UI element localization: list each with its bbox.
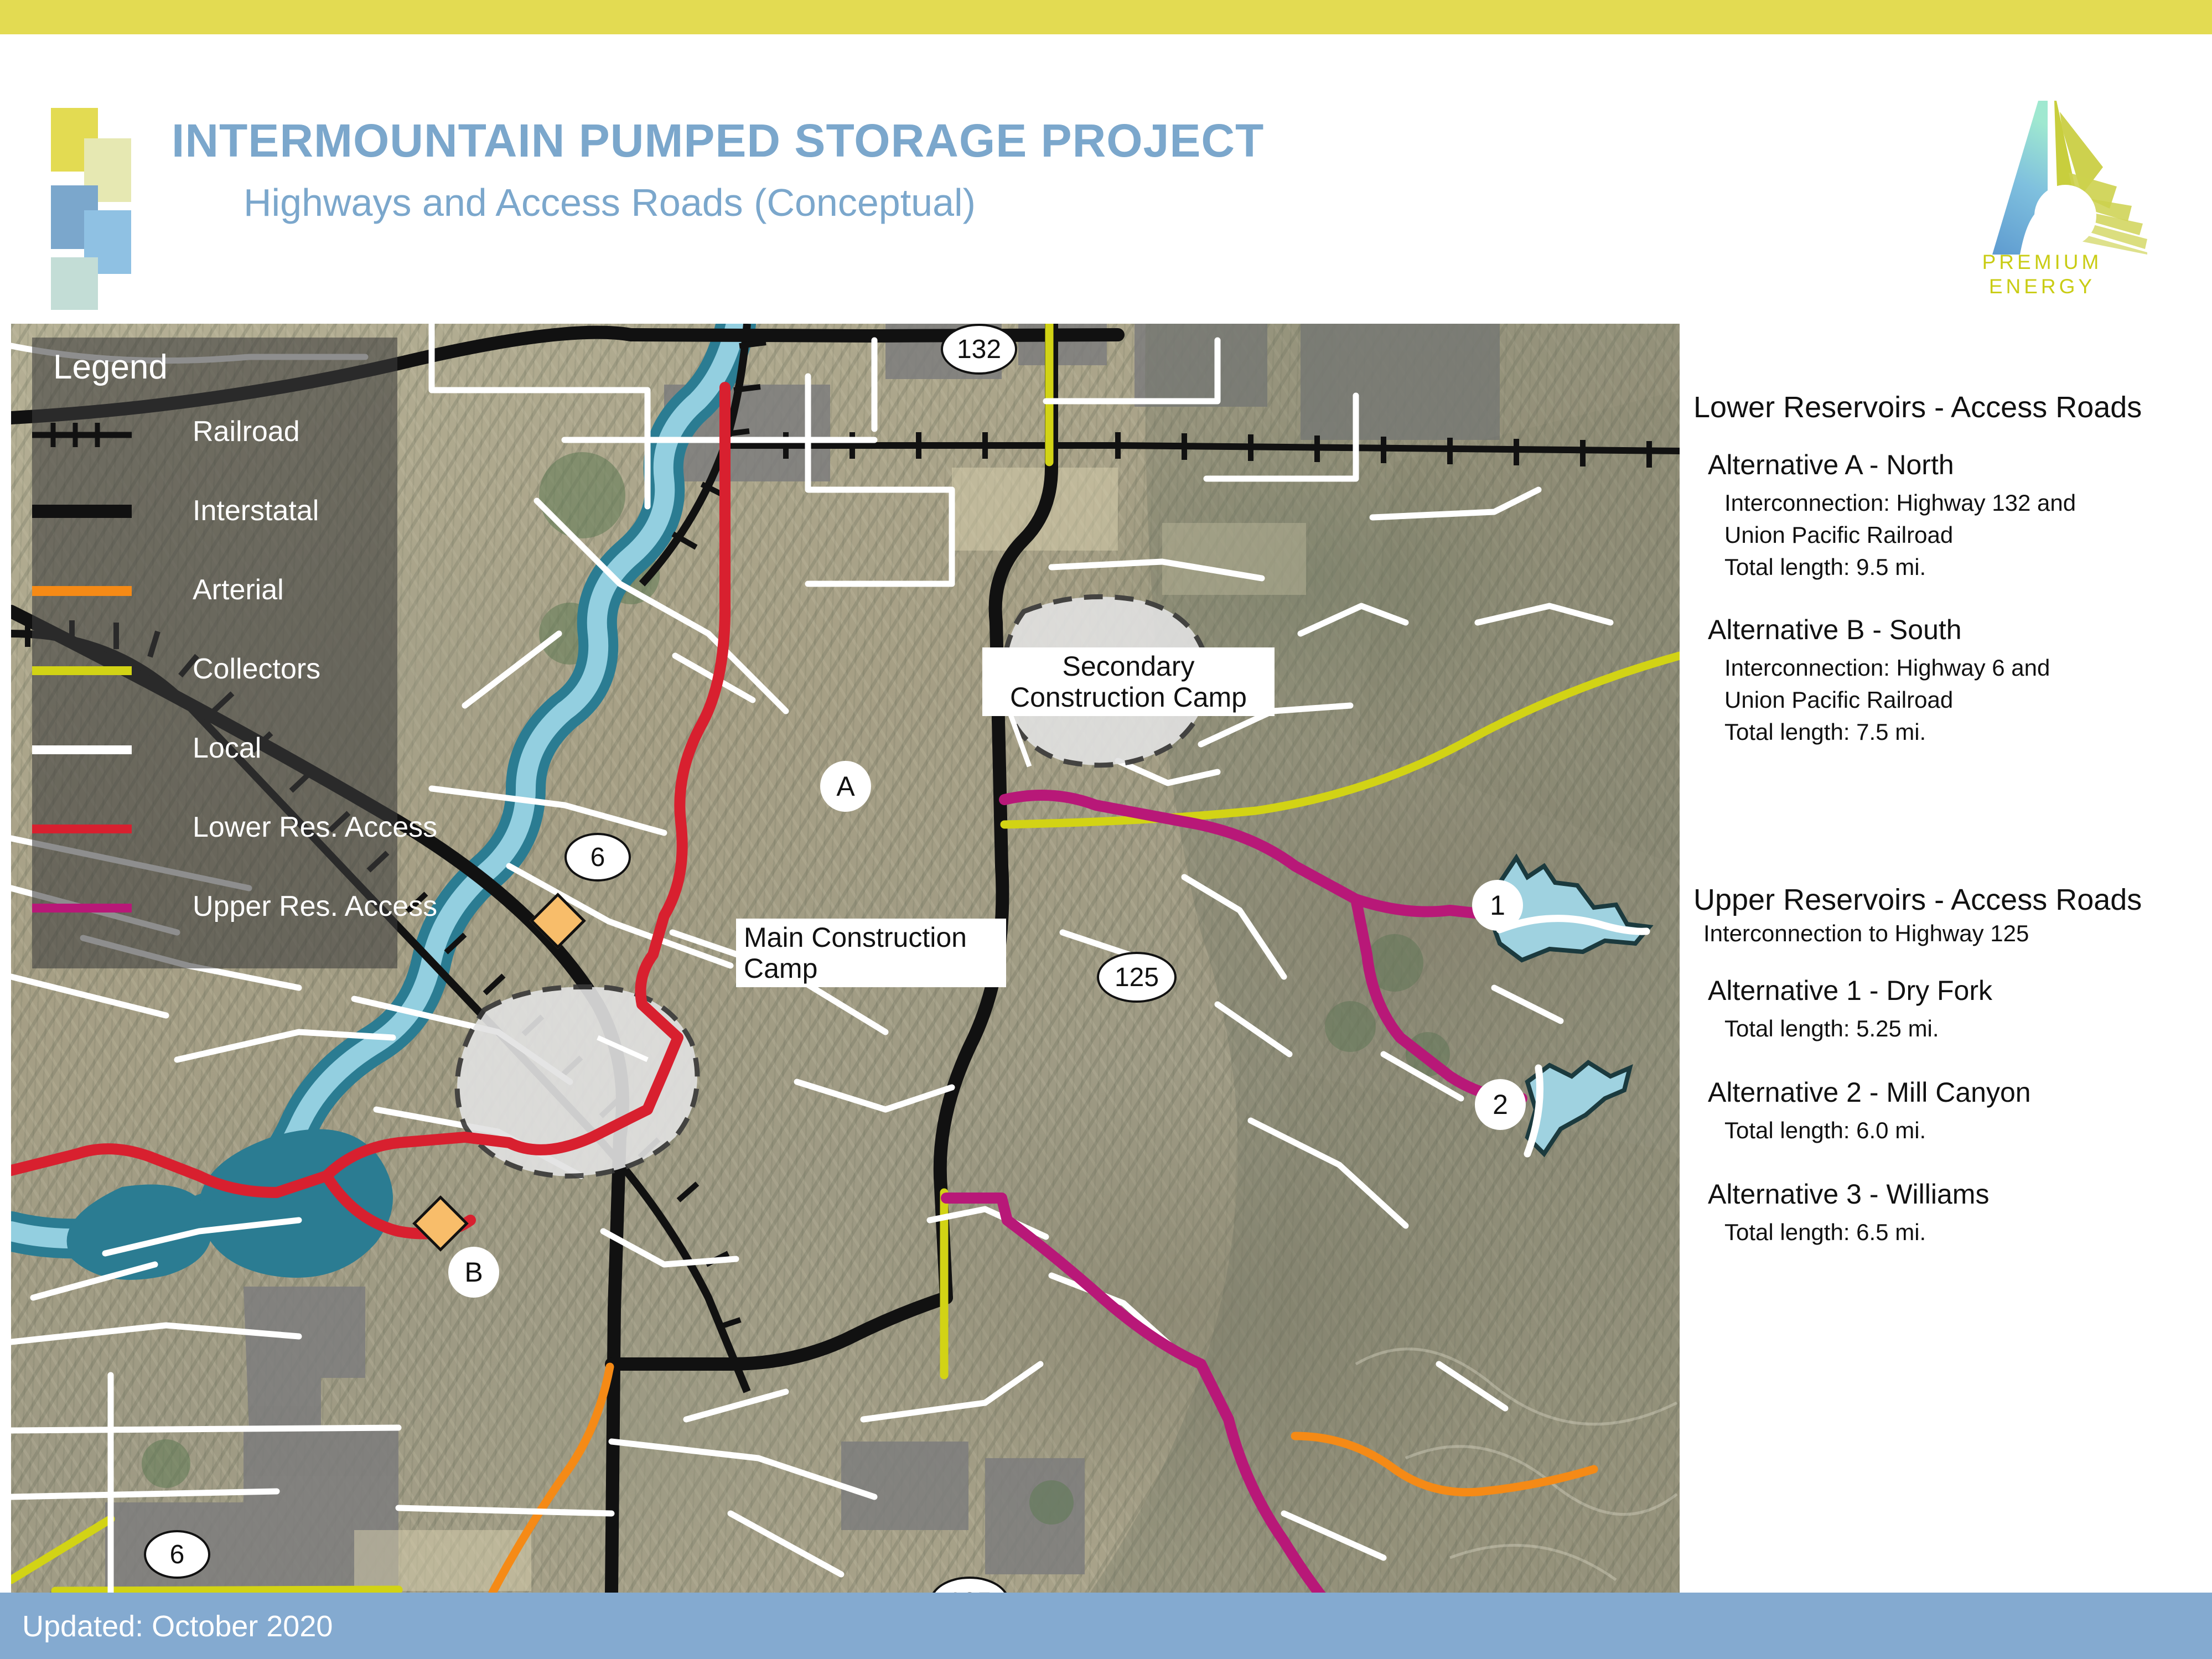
alternative-2-name: Alternative 2 - Mill Canyon [1708, 1076, 2142, 1108]
legend-label-local: Local [193, 732, 261, 765]
top-accent-bar [0, 0, 2212, 34]
railroad-swatch-icon [32, 421, 132, 449]
legend-title: Legend [32, 338, 397, 387]
legend-item-arterial: Arterial [32, 573, 397, 612]
alternative-2-length: Total length: 6.0 mi. [1724, 1117, 2142, 1144]
legend-item-railroad: Railroad [32, 415, 397, 454]
logo-mark-icon [1937, 95, 2147, 256]
page-header: INTERMOUNTAIN PUMPED STORAGE PROJECT Hig… [0, 34, 2212, 324]
callout-leader-lines [598, 706, 1029, 1060]
upper-reservoirs-heading: Upper Reservoirs - Access Roads [1693, 883, 2142, 917]
arterial-swatch-icon [32, 585, 132, 597]
highway-shield-6-north[interactable]: 6 [564, 833, 631, 882]
alternative-a-group: Alternative A - North Interconnection: H… [1708, 449, 2142, 580]
footer-bar: Updated: October 2020 [0, 1593, 2212, 1659]
legend-label-upper-access: Upper Res. Access [193, 890, 437, 923]
page-subtitle: Highways and Access Roads (Conceptual) [244, 180, 1264, 225]
legend-label-railroad: Railroad [193, 415, 300, 448]
upper-res-access-swatch-icon [32, 903, 132, 913]
decorative-color-blocks [51, 108, 131, 307]
legend-item-upper-access: Upper Res. Access [32, 890, 397, 929]
alternative-b-name: Alternative B - South [1708, 614, 2142, 646]
map-canvas[interactable]: Legend Railroad Interstatal Arterial [11, 324, 1680, 1593]
site-marker-1[interactable]: 1 [1472, 880, 1523, 931]
alternative-b-line-3: Total length: 7.5 mi. [1724, 719, 2142, 745]
title-group: INTERMOUNTAIN PUMPED STORAGE PROJECT Hig… [172, 117, 1264, 225]
legend-item-local: Local [32, 732, 397, 770]
highway-shield-125-north[interactable]: 125 [1097, 952, 1177, 1003]
interstate-swatch-icon [32, 504, 132, 519]
callout-main-construction-camp: Main Construction Camp [736, 919, 1006, 987]
collector-swatch-icon [32, 666, 132, 676]
alternative-a-name: Alternative A - North [1708, 449, 2142, 481]
legend-label-arterial: Arterial [193, 573, 284, 606]
alternative-2-group: Alternative 2 - Mill Canyon Total length… [1708, 1076, 2142, 1144]
alternative-1-group: Alternative 1 - Dry Fork Total length: 5… [1708, 974, 2142, 1042]
legend-label-lower-access: Lower Res. Access [193, 811, 437, 844]
legend-item-lower-access: Lower Res. Access [32, 811, 397, 849]
legend-item-collectors: Collectors [32, 652, 397, 691]
access-roads-info-panel: Lower Reservoirs - Access Roads Alternat… [1693, 324, 2203, 1593]
highway-shield-132[interactable]: 132 [941, 324, 1017, 375]
map-legend: Legend Railroad Interstatal Arterial [32, 338, 397, 968]
premium-energy-logo: PREMIUM ENERGY [1937, 95, 2147, 317]
upper-reservoirs-section: Upper Reservoirs - Access Roads Intercon… [1693, 883, 2142, 1246]
legend-label-collectors: Collectors [193, 652, 320, 686]
alternative-b-line-2: Union Pacific Railroad [1724, 687, 2142, 713]
logo-word-premium: PREMIUM [1937, 250, 2147, 274]
upper-reservoirs-subheading: Interconnection to Highway 125 [1703, 920, 2142, 947]
alternative-1-length: Total length: 5.25 mi. [1724, 1015, 2142, 1042]
page-title: INTERMOUNTAIN PUMPED STORAGE PROJECT [172, 117, 1264, 164]
logo-word-energy: ENERGY [1937, 274, 2147, 299]
alternative-a-line-1: Interconnection: Highway 132 and [1724, 490, 2142, 516]
alternative-b-line-1: Interconnection: Highway 6 and [1724, 655, 2142, 681]
highway-shield-6-south[interactable]: 6 [144, 1530, 210, 1579]
lower-reservoirs-heading: Lower Reservoirs - Access Roads [1693, 390, 2142, 424]
alternative-1-name: Alternative 1 - Dry Fork [1708, 974, 2142, 1007]
site-marker-b[interactable]: B [448, 1247, 499, 1298]
lower-res-access-swatch-icon [32, 824, 132, 834]
callout-secondary-construction-camp: Secondary Construction Camp [982, 647, 1275, 716]
site-marker-2[interactable]: 2 [1475, 1079, 1526, 1130]
alternative-a-line-3: Total length: 9.5 mi. [1724, 554, 2142, 580]
legend-item-interstatal: Interstatal [32, 494, 397, 533]
local-road-swatch-icon [32, 745, 132, 755]
logo-wordmark: PREMIUM ENERGY [1937, 250, 2147, 298]
site-marker-a[interactable]: A [820, 761, 871, 812]
legend-label-interstatal: Interstatal [193, 494, 319, 527]
alternative-a-line-2: Union Pacific Railroad [1724, 522, 2142, 548]
lower-reservoirs-section: Lower Reservoirs - Access Roads Alternat… [1693, 390, 2142, 745]
alternative-3-group: Alternative 3 - Williams Total length: 6… [1708, 1178, 2142, 1246]
alternative-3-name: Alternative 3 - Williams [1708, 1178, 2142, 1210]
color-block-teal [51, 257, 98, 310]
alternative-b-group: Alternative B - South Interconnection: H… [1708, 614, 2142, 745]
alternative-3-length: Total length: 6.5 mi. [1724, 1219, 2142, 1246]
footer-updated-text: Updated: October 2020 [22, 1609, 333, 1644]
